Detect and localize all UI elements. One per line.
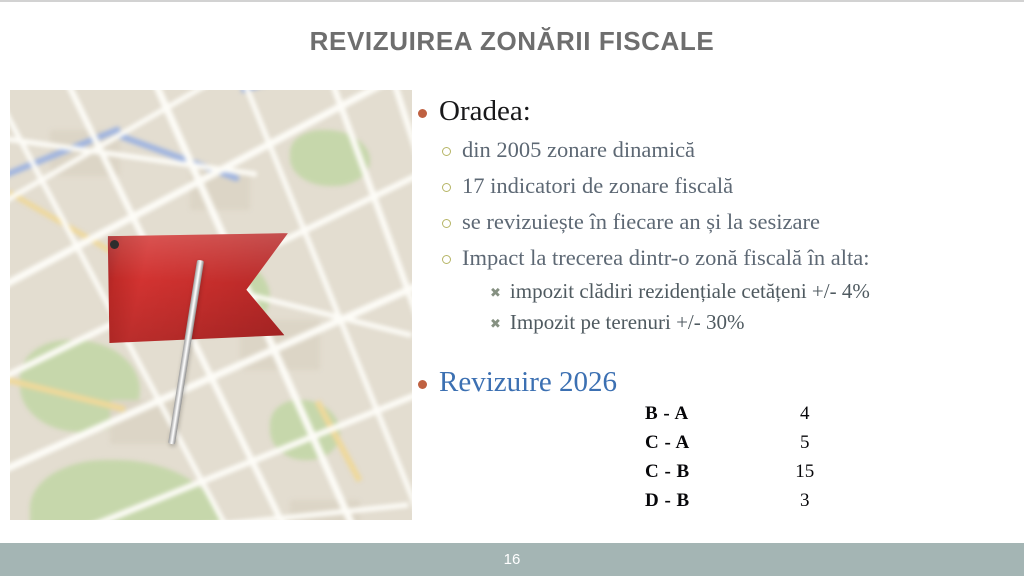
- bullet-cross-icon: ✖: [490, 287, 501, 300]
- bullet-dot-icon: [418, 109, 427, 118]
- table-row: B - A 4: [645, 400, 828, 429]
- bullet-level2-item: Impact la trecerea dintr-o zonă fiscală …: [418, 243, 1014, 273]
- bullet-level3-item: ✖ impozit clădiri rezidențiale cetățeni …: [418, 278, 1014, 306]
- bullet-level3-item: ✖ Impozit pe terenuri +/- 30%: [418, 309, 1014, 337]
- table-cell-value: 15: [782, 458, 828, 487]
- slide-footer: 16: [0, 543, 1024, 576]
- content-body: Oradea: din 2005 zonare dinamică 17 indi…: [418, 94, 1014, 406]
- bullet-dot-icon: [418, 380, 427, 389]
- page-number: 16: [504, 551, 521, 568]
- bullet-text: se revizuiește în fiecare an și la sesiz…: [462, 207, 820, 237]
- table-cell-label: B - A: [645, 400, 782, 429]
- section-heading: Oradea:: [439, 94, 531, 129]
- bullet-circle-icon: [442, 183, 451, 192]
- table-row: C - B 15: [645, 458, 828, 487]
- flag-pole-tip: [110, 240, 119, 249]
- bullet-text: impozit clădiri rezidențiale cetățeni +/…: [510, 278, 870, 306]
- bullet-text: Impact la trecerea dintr-o zonă fiscală …: [462, 243, 869, 273]
- table-cell-value: 3: [782, 487, 828, 516]
- bullet-cross-icon: ✖: [490, 318, 501, 331]
- bullet-level2-item: din 2005 zonare dinamică: [418, 135, 1014, 165]
- table-row: C - A 5: [645, 429, 828, 458]
- bullet-text: Impozit pe terenuri +/- 30%: [510, 309, 745, 337]
- map-with-red-flag-pin-image: [10, 90, 412, 520]
- table-cell-label: C - B: [645, 458, 782, 487]
- page-title: REVIZUIREA ZONĂRII FISCALE: [0, 26, 1024, 57]
- bullet-text: 17 indicatori de zonare fiscală: [462, 171, 733, 201]
- slide-canvas: REVIZUIREA ZONĂRII FISCALE: [0, 0, 1024, 576]
- bullet-circle-icon: [442, 255, 451, 264]
- table-cell-value: 4: [782, 400, 828, 429]
- bullet-level2-item: se revizuiește în fiecare an și la sesiz…: [418, 207, 1014, 237]
- section-heading: Revizuire 2026: [439, 365, 617, 400]
- bullet-circle-icon: [442, 219, 451, 228]
- zone-transition-table: B - A 4 C - A 5 C - B 15 D - B 3: [645, 400, 828, 516]
- bullet-circle-icon: [442, 147, 451, 156]
- bullet-level1-revizuire: Revizuire 2026: [418, 365, 1014, 400]
- bullet-text: din 2005 zonare dinamică: [462, 135, 695, 165]
- table-cell-label: D - B: [645, 487, 782, 516]
- table-cell-value: 5: [782, 429, 828, 458]
- bullet-level2-item: 17 indicatori de zonare fiscală: [418, 171, 1014, 201]
- table-cell-label: C - A: [645, 429, 782, 458]
- bullet-level1-oradea: Oradea:: [418, 94, 1014, 129]
- table-row: D - B 3: [645, 487, 828, 516]
